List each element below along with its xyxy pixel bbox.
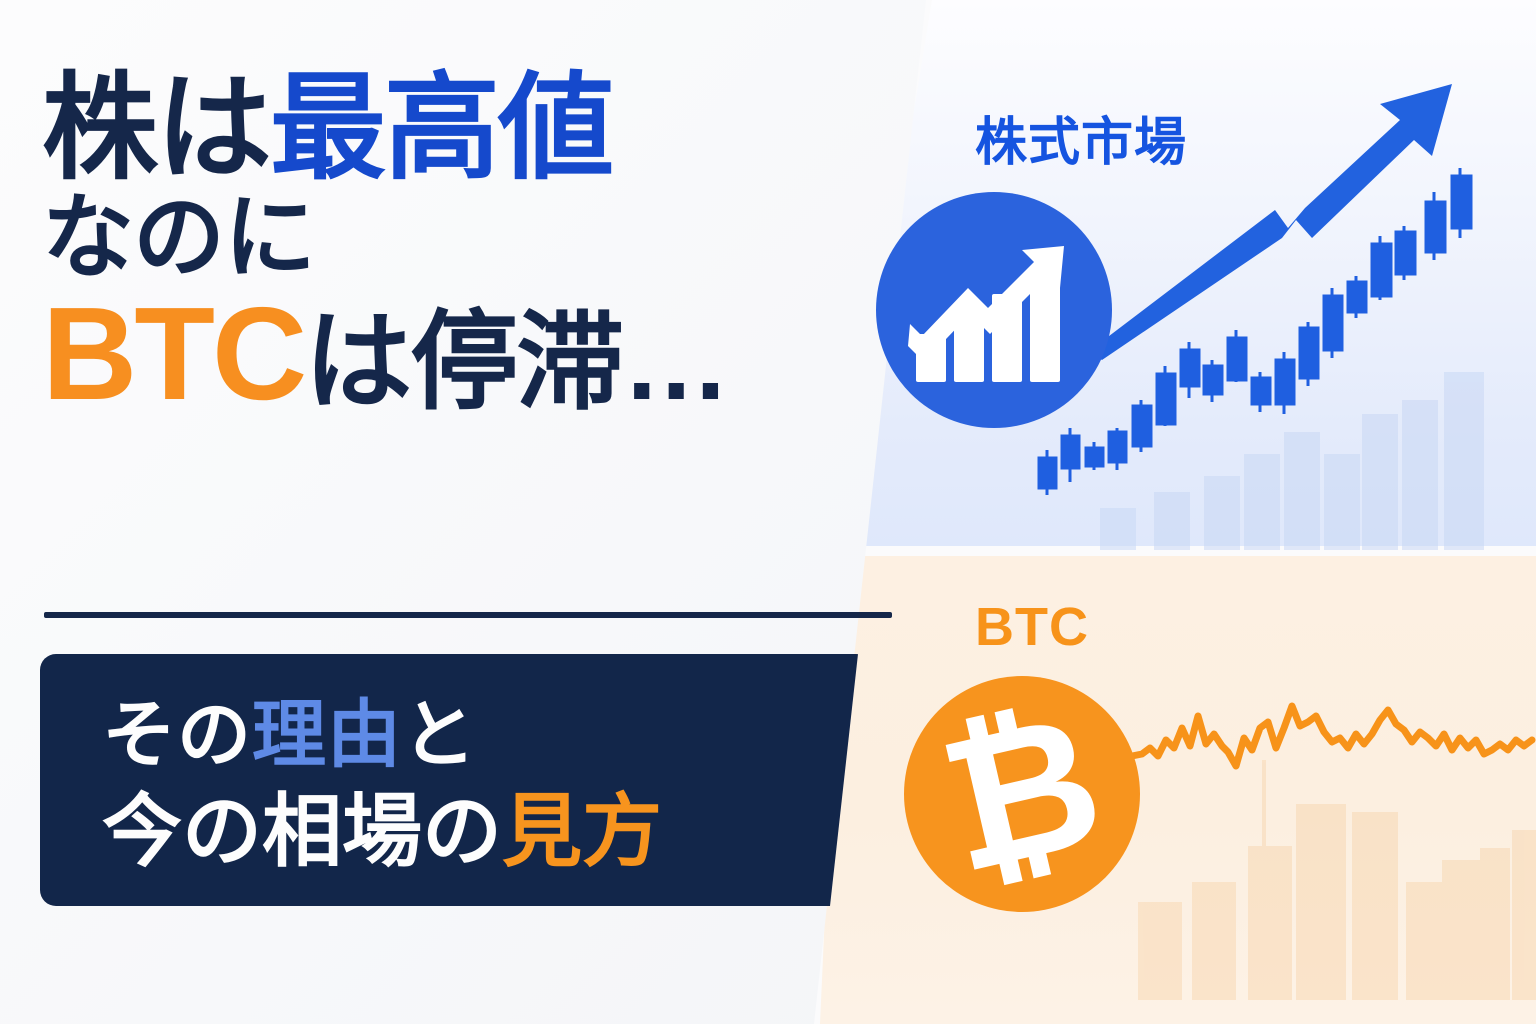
headline-block: 株は最高値 なのに BTCは停滞… — [42, 70, 922, 420]
bar-chart-growth-icon — [906, 222, 1082, 398]
callout-row-2-white: 今の相場の — [102, 787, 502, 876]
headline-btc-word: BTC — [42, 280, 304, 427]
headline-line-2: なのに — [42, 192, 922, 284]
headline-line-2-navy: なのに — [42, 187, 315, 289]
callout-row-2-highlight: 見方 — [502, 787, 662, 876]
headline-line-3: BTCは停滞… — [42, 288, 922, 420]
callout-row-1-white-a: その — [102, 693, 252, 776]
poster-canvas: 株は最高値 なのに BTCは停滞… その理由と 今の相場の見方 株式市場 BTC — [0, 0, 1536, 1024]
callout-row-1: その理由と — [102, 698, 477, 772]
headline-line-3-navy: は停滞… — [304, 301, 728, 422]
headline-line-1-blue: 最高値 — [270, 63, 612, 193]
headline-line-1: 株は最高値 — [42, 70, 922, 186]
btc-label: BTC — [975, 596, 1089, 658]
headline-divider-rule — [44, 612, 892, 618]
callout-row-1-white-b: と — [402, 693, 477, 776]
callout-row-1-highlight: 理由 — [252, 693, 402, 776]
btc-flat-line-chart — [1128, 690, 1536, 830]
headline-line-1-navy: 株は — [42, 63, 270, 193]
stock-market-label: 株式市場 — [975, 100, 1187, 175]
callout-row-2: 今の相場の見方 — [102, 792, 662, 872]
callout-box: その理由と 今の相場の見方 — [40, 654, 872, 906]
